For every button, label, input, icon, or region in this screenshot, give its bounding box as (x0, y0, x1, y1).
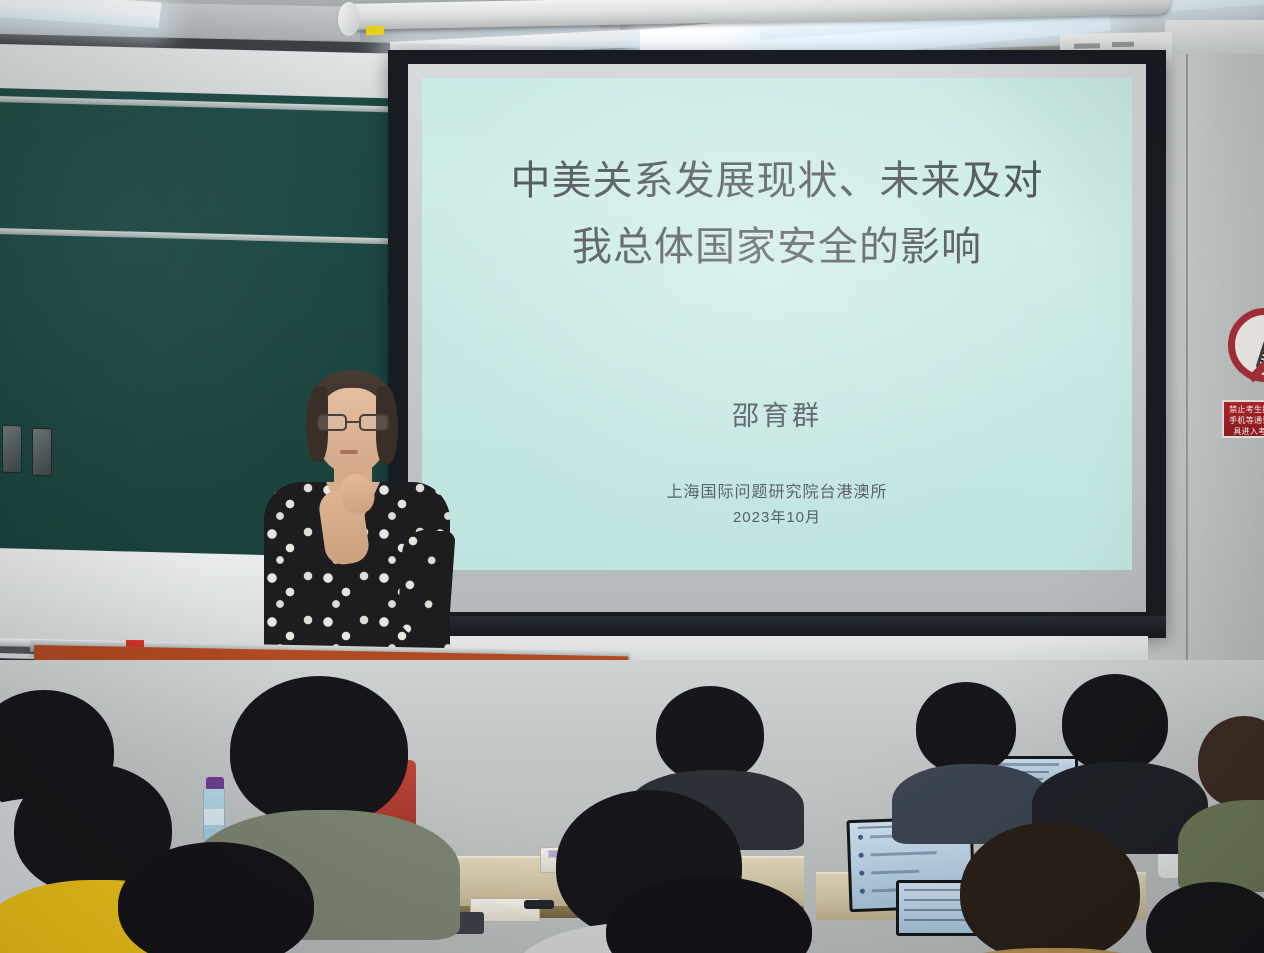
slide-affiliation: 上海国际问题研究院台港澳所 (422, 478, 1132, 502)
no-phone-sign: 禁止考生携带手机等通讯工具进入考场 (1222, 308, 1264, 438)
seated-student (606, 876, 822, 953)
screen-inner-frame: 中美关系发展现状、未来及对 我总体国家安全的影响 邵育群 上海国际问题研究院台港… (408, 64, 1146, 612)
lecture-hall-photo: 禁止考生携带手机等通讯工具进入考场 中美关系发展现状、未来及对 我总体国家安全的… (0, 0, 1264, 953)
slide-title: 中美关系发展现状、未来及对 我总体国家安全的影响 (462, 148, 1092, 280)
column-cap (1165, 20, 1264, 54)
no-phone-sign-label: 禁止考生携带手机等通讯工具进入考场 (1222, 400, 1264, 438)
eyeglasses-icon (316, 414, 390, 432)
seated-student (118, 842, 324, 953)
wall-switch-plate[interactable] (32, 428, 52, 476)
seated-student (816, 772, 936, 842)
seated-student (1062, 674, 1180, 834)
slide-date: 2023年10月 (422, 506, 1132, 527)
screen-weight-bar (388, 616, 1166, 638)
slide-title-line-2: 我总体国家安全的影响 (462, 214, 1092, 280)
projection-screen: 中美关系发展现状、未来及对 我总体国家安全的影响 邵育群 上海国际问题研究院台港… (388, 50, 1166, 634)
prohibition-circle-icon (1228, 308, 1264, 382)
roller-sticker (366, 26, 384, 35)
seated-student (1198, 716, 1264, 866)
seated-student (1146, 882, 1264, 953)
slide-title-line-1: 中美关系发展现状、未来及对 (462, 148, 1092, 214)
presenter-mouth (340, 450, 358, 454)
presenter-sleeve (396, 528, 455, 639)
mobile-phone[interactable] (524, 900, 554, 909)
seated-student: B (960, 822, 1150, 953)
slide-surface: 中美关系发展现状、未来及对 我总体国家安全的影响 邵育群 上海国际问题研究院台港… (422, 78, 1132, 570)
presenter-at-podium (258, 370, 456, 658)
slide-speaker-name: 邵育群 (422, 394, 1132, 433)
wall-switch-plate[interactable] (2, 425, 22, 473)
